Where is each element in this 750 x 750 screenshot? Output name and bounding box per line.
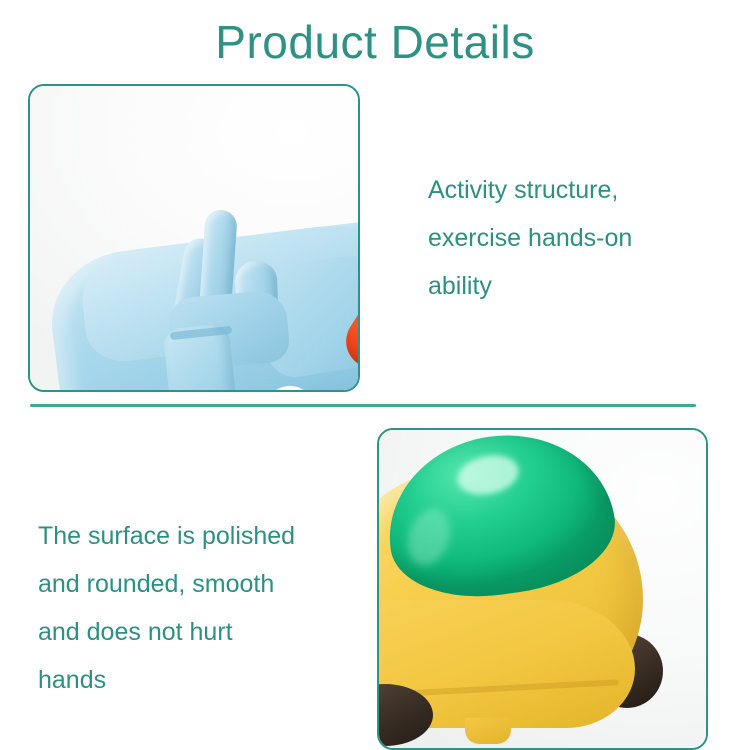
caption-line: and rounded, smooth (38, 560, 358, 608)
page-title: Product Details (0, 14, 750, 70)
caption-line: exercise hands-on (428, 214, 698, 262)
caption-line: The surface is polished (38, 512, 358, 560)
caption-line: Activity structure, (428, 166, 698, 214)
caption-line: ability (428, 262, 698, 310)
caption-line: hands (38, 656, 358, 704)
product-photo-frame-activity[interactable] (28, 84, 360, 392)
caption-polished-surface: The surface is polished and rounded, smo… (38, 512, 358, 704)
blue-ride-on-toy-handlebar-closeup-image (30, 86, 358, 390)
caption-activity-structure: Activity structure, exercise hands-on ab… (428, 166, 698, 310)
caption-line: and does not hurt (38, 608, 358, 656)
yellow-green-dome-toy-car-closeup-image (379, 430, 706, 748)
section-divider (30, 404, 696, 407)
toy-underside-tab (465, 718, 511, 744)
product-photo-frame-surface[interactable] (377, 428, 708, 750)
